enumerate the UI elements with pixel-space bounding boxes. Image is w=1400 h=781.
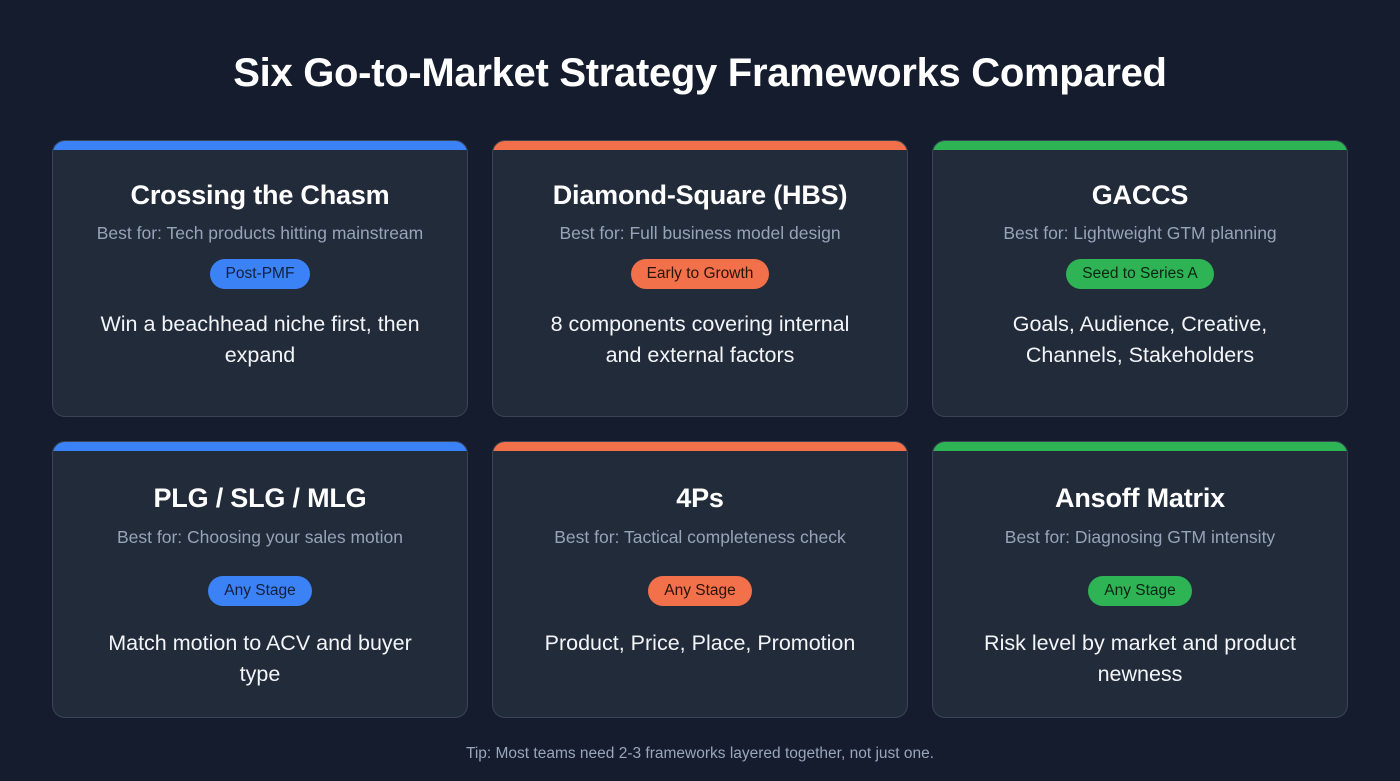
card-accent-bar: [53, 442, 467, 451]
card-best-for: Best for: Diagnosing GTM intensity: [1005, 526, 1275, 549]
page-title: Six Go-to-Market Strategy Frameworks Com…: [0, 50, 1400, 96]
card-best-for: Best for: Tech products hitting mainstre…: [97, 222, 424, 245]
card-stage-badge[interactable]: Any Stage: [1088, 576, 1192, 606]
framework-card-gaccs[interactable]: GACCS Best for: Lightweight GTM planning…: [932, 140, 1348, 417]
framework-card-plg-slg-mlg[interactable]: PLG / SLG / MLG Best for: Choosing your …: [52, 441, 468, 718]
card-best-for: Best for: Tactical completeness check: [554, 526, 845, 549]
framework-card-crossing-the-chasm[interactable]: Crossing the Chasm Best for: Tech produc…: [52, 140, 468, 417]
card-stage-badge[interactable]: Any Stage: [208, 576, 312, 606]
card-accent-bar: [493, 141, 907, 150]
framework-card-4ps[interactable]: 4Ps Best for: Tactical completeness chec…: [492, 441, 908, 718]
framework-card-grid: Crossing the Chasm Best for: Tech produc…: [52, 140, 1348, 718]
card-description: Match motion to ACV and buyer type: [90, 628, 430, 690]
card-title: Crossing the Chasm: [131, 179, 390, 211]
card-stage-badge[interactable]: Seed to Series A: [1066, 259, 1213, 289]
card-title: PLG / SLG / MLG: [153, 482, 366, 514]
framework-comparison-page: Six Go-to-Market Strategy Frameworks Com…: [0, 0, 1400, 781]
card-accent-bar: [493, 442, 907, 451]
card-title: GACCS: [1092, 179, 1189, 211]
card-best-for: Best for: Lightweight GTM planning: [1003, 222, 1276, 245]
card-stage-badge[interactable]: Post-PMF: [210, 259, 311, 289]
footer-tip: Tip: Most teams need 2-3 frameworks laye…: [0, 744, 1400, 764]
card-description: Risk level by market and product newness: [970, 628, 1310, 690]
card-description: Product, Price, Place, Promotion: [545, 628, 856, 659]
card-description: 8 components covering internal and exter…: [530, 309, 870, 371]
card-stage-badge[interactable]: Early to Growth: [631, 259, 770, 289]
card-stage-badge[interactable]: Any Stage: [648, 576, 752, 606]
framework-card-diamond-square[interactable]: Diamond-Square (HBS) Best for: Full busi…: [492, 140, 908, 417]
card-description: Goals, Audience, Creative, Channels, Sta…: [970, 309, 1310, 371]
card-accent-bar: [933, 141, 1347, 150]
card-title: 4Ps: [676, 482, 723, 514]
card-title: Ansoff Matrix: [1055, 482, 1225, 514]
card-best-for: Best for: Choosing your sales motion: [117, 526, 403, 549]
card-title: Diamond-Square (HBS): [553, 179, 848, 211]
card-accent-bar: [53, 141, 467, 150]
card-description: Win a beachhead niche first, then expand: [90, 309, 430, 371]
card-best-for: Best for: Full business model design: [559, 222, 840, 245]
card-accent-bar: [933, 442, 1347, 451]
framework-card-ansoff-matrix[interactable]: Ansoff Matrix Best for: Diagnosing GTM i…: [932, 441, 1348, 718]
